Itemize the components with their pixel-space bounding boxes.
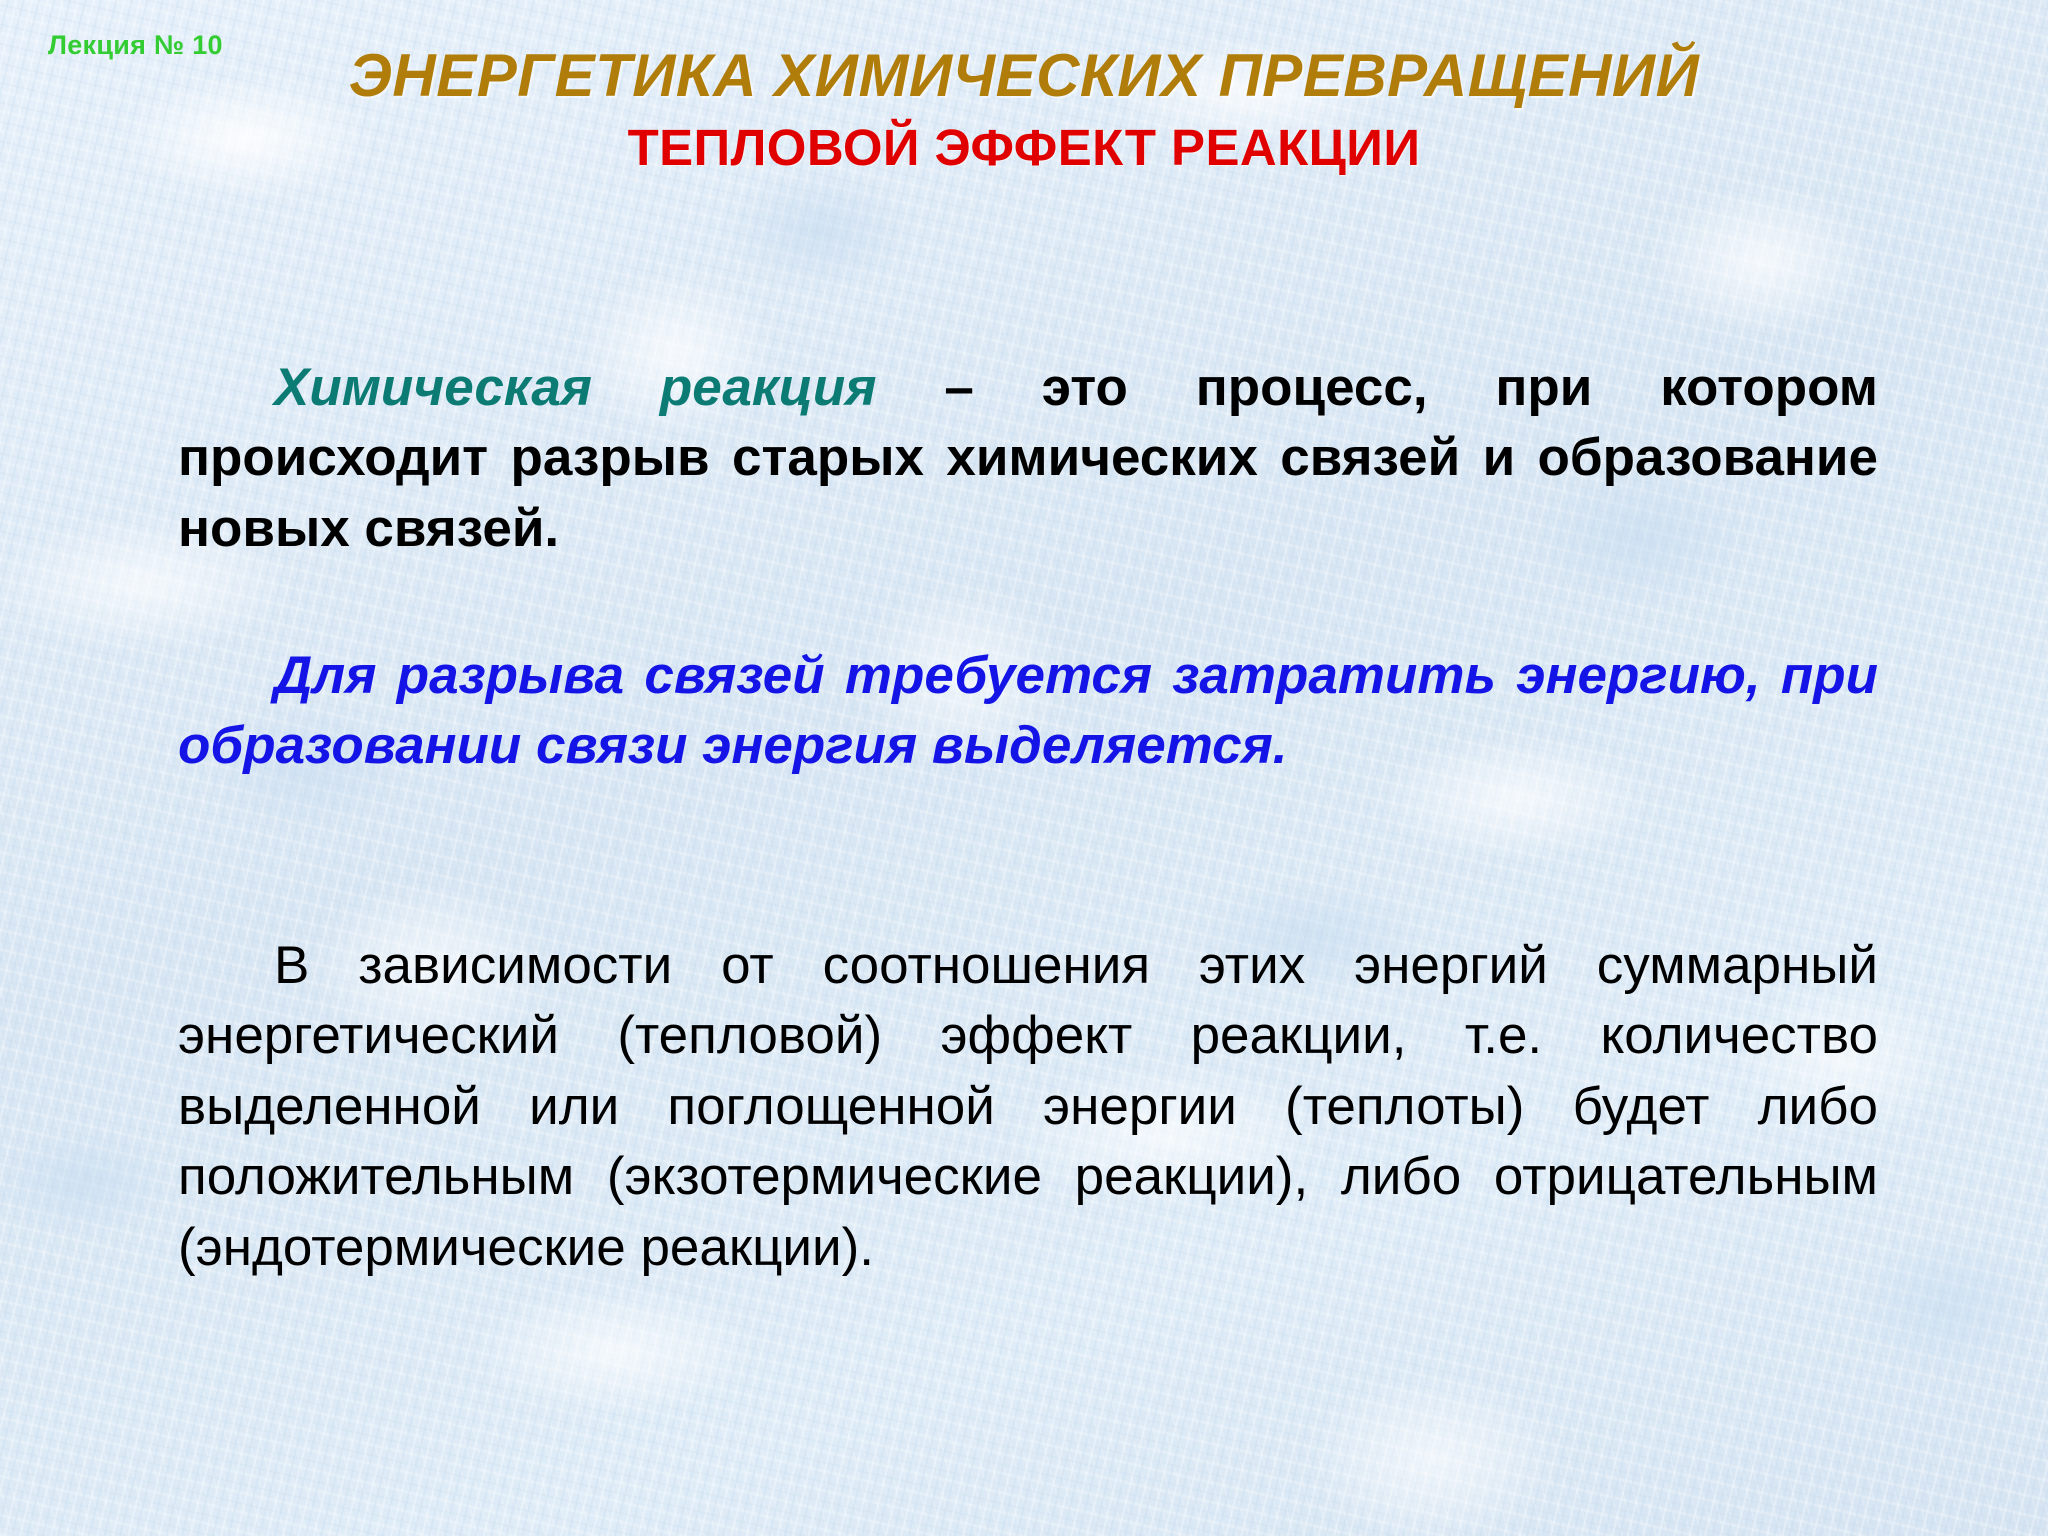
paragraph-chemical-reaction-definition: Химическая реакция – это процесс, при ко… [178, 353, 1878, 564]
page-subtitle: ТЕПЛОВОЙ ЭФФЕКТ РЕАКЦИИ [0, 122, 2048, 173]
page-title: ЭНЕРГЕТИКА ХИМИЧЕСКИХ ПРЕВРАЩЕНИЙ [0, 46, 2048, 106]
paragraph-thermal-effect: В зависимости от соотношения этих энерги… [178, 931, 1878, 1283]
paragraph-bond-energy: Для разрыва связей требуется затратить э… [178, 641, 1878, 782]
slide-canvas: Лекция № 10 ЭНЕРГЕТИКА ХИМИЧЕСКИХ ПРЕВРА… [0, 0, 2048, 1536]
title-block: ЭНЕРГЕТИКА ХИМИЧЕСКИХ ПРЕВРАЩЕНИЙ ТЕПЛОВ… [0, 46, 2048, 173]
term-chemical-reaction: Химическая реакция [274, 358, 877, 417]
